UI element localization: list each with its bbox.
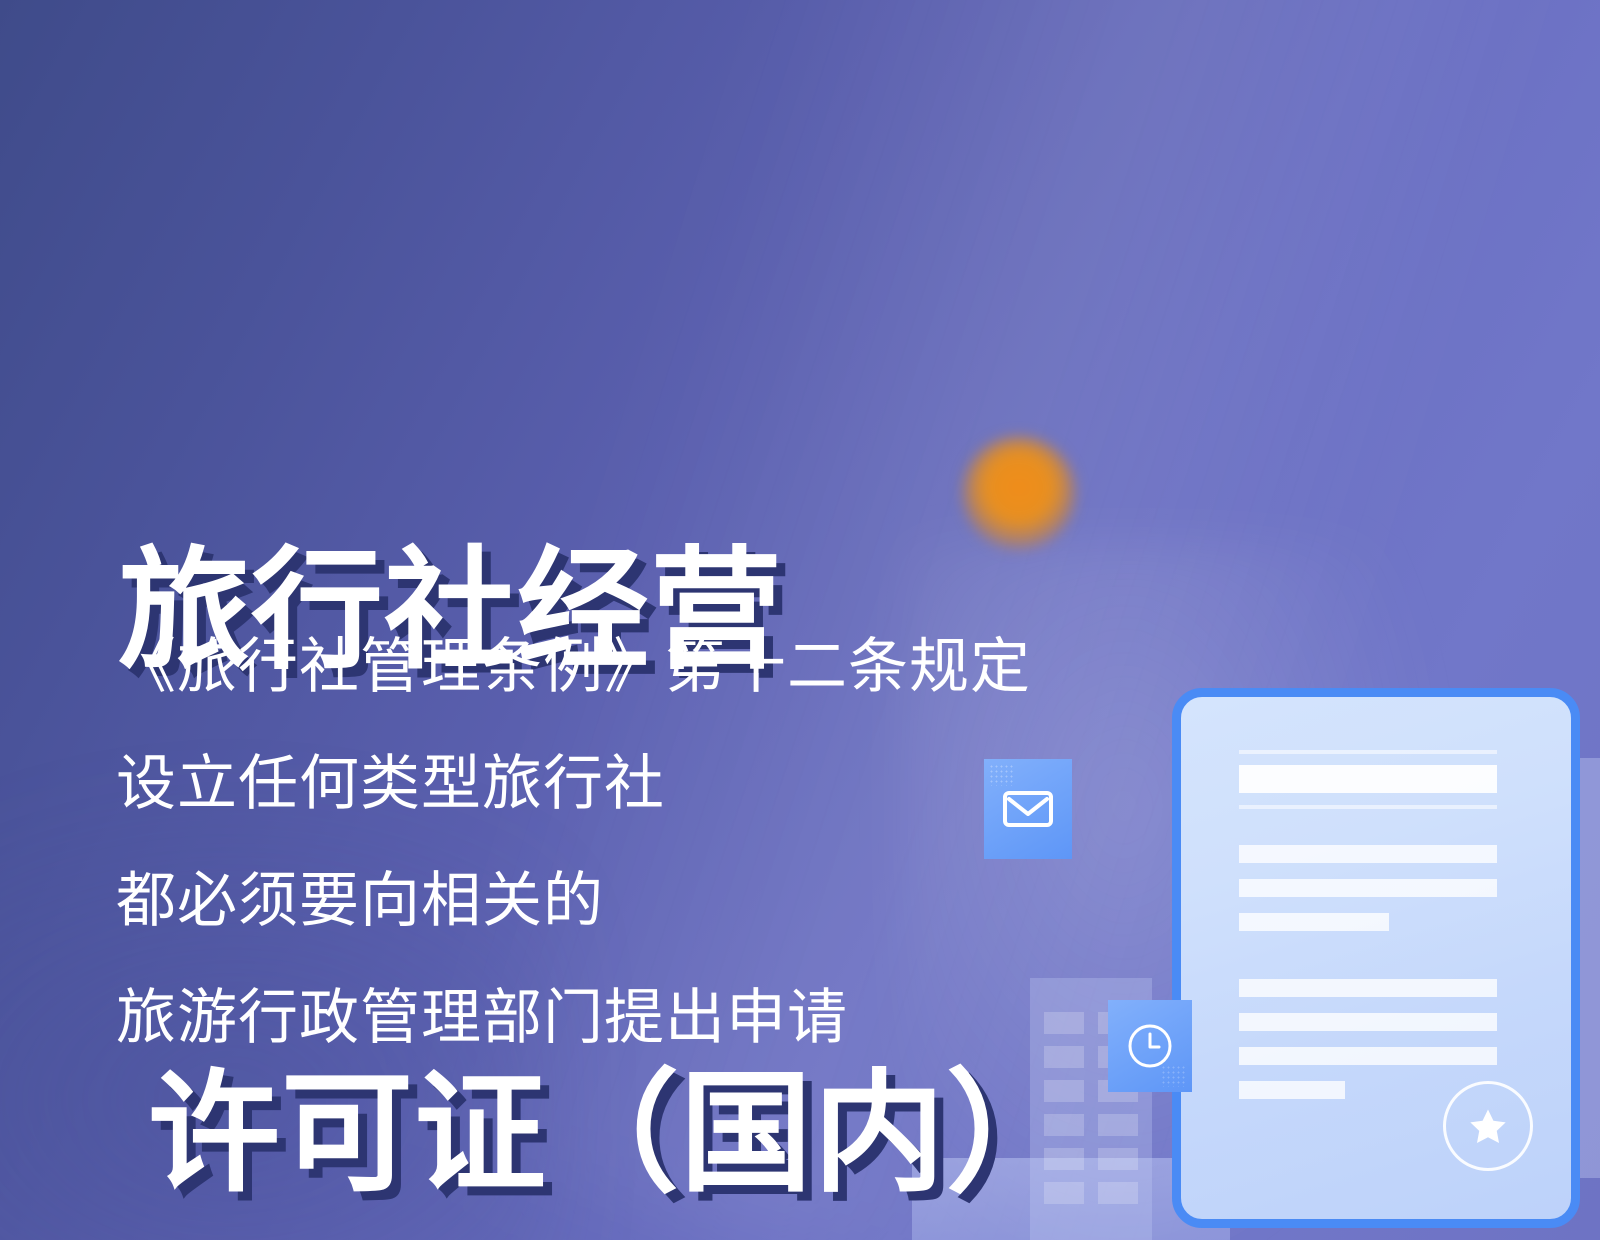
subtitle-line-4: 旅游行政管理部门提出申请 — [116, 959, 1216, 1076]
subtitle-line-2: 设立任何类型旅行社 — [116, 725, 1216, 842]
subtitle-line-1: 《旅行社管理条例》第十二条规定 — [116, 608, 1216, 725]
certificate-document-card — [1172, 688, 1580, 1228]
star-seal-icon — [1443, 1081, 1533, 1171]
poster-canvas: 旅行社经营 许可证（国内） 《旅行社管理条例》第十二条规定 设立任何类型旅行社 … — [0, 0, 1600, 1240]
poster-subtitle: 《旅行社管理条例》第十二条规定 设立任何类型旅行社 都必须要向相关的 旅游行政管… — [116, 608, 1216, 1076]
subtitle-line-3: 都必须要向相关的 — [116, 842, 1216, 959]
